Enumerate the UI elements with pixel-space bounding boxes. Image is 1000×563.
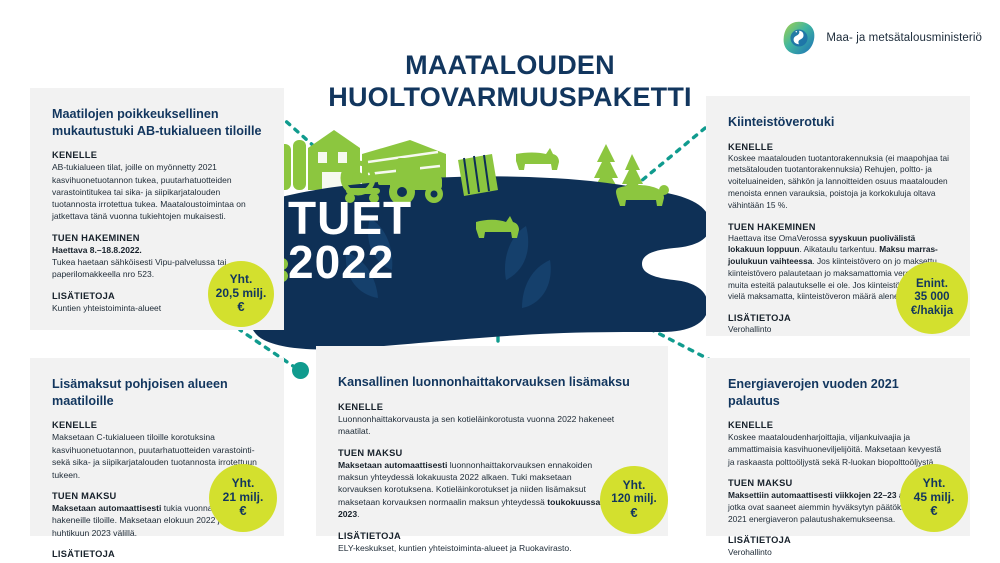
card-title: Energiaverojen vuoden 2021 palautus	[728, 376, 950, 409]
section-body: Maksetaan automaattisesti luonnonhaittak…	[338, 459, 606, 521]
section-body: Verohallinto	[728, 546, 950, 558]
badge-line-2: 35 000	[914, 291, 949, 304]
badge-line-1: Yht.	[923, 477, 946, 491]
card-section-tuen-maksu: TUEN MAKSU Maksetaan automaattisesti luo…	[338, 448, 606, 521]
section-body: Koskee maataloudenharjoittajia, viljanku…	[728, 431, 950, 468]
badge-line-2: 20,5 milj.	[216, 287, 267, 301]
section-heading: KENELLE	[728, 420, 950, 430]
page-title-line-1: MAATALOUDEN	[300, 50, 720, 82]
section-body: Luonnonhaittakorvausta ja sen kotieläink…	[338, 413, 648, 438]
section-heading: KENELLE	[338, 402, 648, 412]
badge-line-3: €	[237, 300, 244, 315]
connector-dot-bottom-left	[292, 362, 309, 379]
card-section-kenelle: KENELLE Koskee maatalouden tuotantoraken…	[728, 142, 950, 212]
badge-line-3: €	[239, 504, 246, 519]
badge-line-1: Yht.	[230, 273, 253, 287]
badge-line-1: Yht.	[232, 477, 255, 491]
section-heading: TUEN HAKEMINEN	[728, 222, 950, 232]
section-heading: KENELLE	[52, 420, 264, 430]
ministry-crest-logo-icon	[781, 20, 817, 56]
card-section-lisatietoja: LISÄTIETOJA Verohallinto	[728, 535, 950, 558]
card-section-kenelle: KENELLE Koskee maataloudenharjoittajia, …	[728, 420, 950, 468]
section-body-text: Tukea haetaan sähköisesti Vipu-palveluss…	[52, 257, 226, 279]
section-heading: TUEN HAKEMINEN	[52, 233, 264, 243]
section-heading: KENELLE	[52, 150, 264, 160]
section-heading: LISÄTIETOJA	[52, 549, 264, 559]
badge-line-2: 45 milj.	[914, 491, 955, 505]
section-body: Koskee maatalouden tuotantorakennuksia (…	[728, 153, 950, 212]
badge-line-3: €/hakija	[911, 305, 953, 318]
amount-badge-maatilojen: Yht. 20,5 milj. €	[208, 261, 274, 327]
badge-line-2: 21 milj.	[223, 491, 264, 505]
section-heading: LISÄTIETOJA	[728, 535, 950, 545]
card-section-lisatietoja: LISÄTIETOJA ELY-keskukset, kuntien yhtei…	[52, 549, 264, 563]
illustration-main-label: TUET 2022	[288, 196, 498, 284]
card-title: Kiinteistöverotuki	[728, 114, 950, 131]
amount-badge-lisamaksut: Yht. 21 milj. €	[209, 464, 277, 532]
card-title: Maatilojen poikkeuksellinen mukautustuki…	[52, 106, 264, 139]
amount-badge-energiaverot: Yht. 45 milj. €	[900, 464, 968, 532]
ministry-logo: Maa- ja metsätalousministeriö	[781, 20, 982, 56]
badge-line-1: Yht.	[623, 479, 646, 493]
section-heading: KENELLE	[728, 142, 950, 152]
badge-line-3: €	[930, 504, 937, 519]
section-body: ELY-keskukset, kuntien yhteistoiminta-al…	[338, 542, 648, 554]
section-body-bold: Haettava 8.–18.8.2022.	[52, 245, 142, 255]
amount-badge-kiinteistoverotuki: Enint. 35 000 €/hakija	[896, 262, 968, 334]
amount-badge-luonnonhaittakorvaus: Yht. 120 milj. €	[600, 466, 668, 534]
page-title-line-2: HUOLTOVARMUUSPAKETTI	[300, 82, 720, 114]
section-heading: TUEN MAKSU	[338, 448, 606, 458]
illustration-label-line-1: TUET	[288, 196, 498, 240]
badge-line-1: Enint.	[916, 278, 948, 291]
card-section-kenelle: KENELLE Luonnonhaittakorvausta ja sen ko…	[338, 402, 648, 438]
badge-line-3: €	[630, 506, 637, 521]
card-section-lisatietoja: LISÄTIETOJA ELY-keskukset, kuntien yhtei…	[338, 531, 648, 554]
card-section-kenelle: KENELLE AB-tukialueen tilat, joille on m…	[52, 150, 264, 223]
card-title: Lisämaksut pohjoisen alueen maatiloille	[52, 376, 264, 409]
section-body: AB-tukialueen tilat, joille on myönnetty…	[52, 161, 264, 223]
ministry-logo-text: Maa- ja metsätalousministeriö	[826, 32, 982, 44]
section-heading: LISÄTIETOJA	[338, 531, 648, 541]
infographic-root: MAATALOUDEN HUOLTOVARMUUSPAKETTI Maa-	[0, 0, 1000, 563]
page-title: MAATALOUDEN HUOLTOVARMUUSPAKETTI	[300, 50, 720, 113]
card-title: Kansallinen luonnonhaittakorvauksen lisä…	[338, 374, 648, 391]
illustration-label-line-2: 2022	[288, 240, 498, 284]
